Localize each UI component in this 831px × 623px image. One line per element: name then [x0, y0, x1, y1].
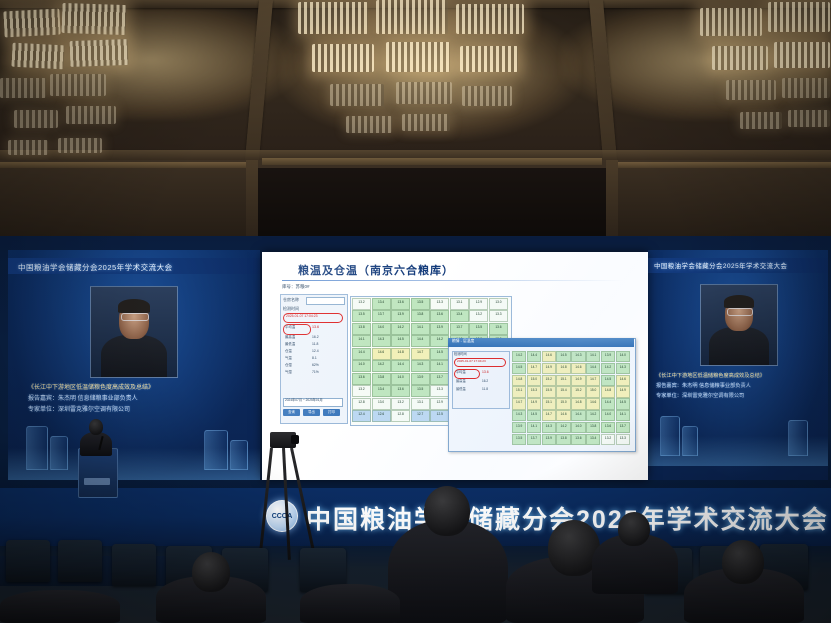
- ccoa-logo-icon: CCOA: [266, 500, 298, 532]
- led-right-ground-glow: [648, 436, 828, 466]
- audience-head-1: [424, 486, 470, 536]
- chair-3[interactable]: [112, 544, 156, 586]
- chandelier-c3: [456, 4, 524, 34]
- audience-head-3: [618, 512, 650, 546]
- chandelier-r2: [768, 2, 830, 32]
- audience-person-7: [0, 590, 120, 623]
- led-left-portrait: [90, 286, 178, 378]
- audience-person-6: [300, 584, 400, 623]
- chandelier-r1: [700, 8, 762, 36]
- speaker-head: [89, 419, 103, 435]
- wall-column-right: [606, 160, 618, 242]
- conference-hall-photo: 中国粮油学会储藏分会2025年学术交流大会 《长江中下游地区低温储粮色度高成效及…: [0, 0, 831, 623]
- wall-column-left: [246, 160, 258, 242]
- led-right-caption-line2: 报告嘉宾：朱杰明 信息储粮事业部负责人: [656, 382, 751, 390]
- chandelier-r5: [726, 80, 776, 100]
- chandelier-c2: [376, 0, 448, 34]
- led-right-caption-line3: 专家单位：深圳雷克雅尔空调有限公司: [656, 392, 744, 400]
- portrait-body-left: [101, 335, 167, 378]
- chandelier-l4: [70, 39, 129, 67]
- chandelier-r3: [712, 46, 768, 70]
- ccoa-logo-text: CCOA: [272, 513, 293, 520]
- chandelier-l9: [8, 140, 48, 155]
- led-right-caption-title: 《长江中下游地区低温储粮色度高成效及总结》: [656, 372, 765, 380]
- camera-lens-icon: [291, 435, 299, 444]
- presentation-screen: 粮温及仓温（南京六合粮库） 库号：苏粮0# 仓房名称 检测时间 2025-01-…: [262, 252, 648, 480]
- chandelier-c1: [298, 2, 368, 34]
- chandelier-c9: [462, 86, 512, 106]
- chandelier-r6: [782, 78, 830, 98]
- chandelier-l1: [3, 9, 60, 38]
- led-screen-right: 中国粮油学会储藏分会2025年学术交流大会 《长江中下游地区低温储粮色度高成效及…: [648, 250, 828, 480]
- wall-trim-left: [0, 162, 250, 168]
- chandelier-c4: [312, 44, 374, 72]
- wall-trim-right: [612, 162, 831, 168]
- chandelier-l3: [11, 43, 64, 70]
- chandelier-r8: [788, 110, 830, 127]
- portrait-hair-left: [118, 299, 150, 313]
- led-left-caption-line2: 报告嘉宾：朱杰明 信息储粮事业部负责人: [28, 395, 138, 404]
- audience-head-4: [722, 540, 764, 584]
- chair-1[interactable]: [6, 540, 50, 582]
- chandelier-l5: [0, 78, 46, 98]
- chandelier-c7: [330, 84, 384, 106]
- wall-dark-alcove: [258, 168, 606, 242]
- chandelier-r7: [740, 112, 782, 129]
- led-right-header-text: 中国粮油学会储藏分会2025年学术交流大会: [654, 261, 787, 270]
- portrait-glasses-right: [727, 308, 753, 316]
- portrait-hair-right: [724, 295, 754, 308]
- banner-logo: CCOA: [266, 500, 298, 532]
- chandelier-l7: [14, 110, 58, 128]
- chandelier-c8: [396, 82, 452, 104]
- speaker-shoulders: [80, 432, 112, 456]
- led-left-header-text: 中国粮油学会储藏分会2025年学术交流大会: [18, 262, 173, 273]
- chandelier-c10: [346, 116, 392, 133]
- led-right-portrait: [700, 284, 778, 366]
- podium-name-plate: [84, 478, 110, 485]
- chandelier-c6: [460, 46, 518, 72]
- led-left-ground-glow: [8, 448, 260, 480]
- audience-head-5: [192, 552, 230, 592]
- wall-trim-center: [262, 158, 602, 165]
- portrait-glasses-left: [121, 313, 149, 321]
- chandelier-l2: [61, 3, 126, 35]
- chandelier-l6: [50, 74, 106, 96]
- chandelier-c11: [402, 114, 450, 131]
- chandelier-r4: [774, 42, 830, 68]
- chair-2[interactable]: [58, 540, 102, 582]
- led-screen-left: 中国粮油学会储藏分会2025年学术交流大会 《长江中下游地区低温储粮色度高成效及…: [8, 250, 260, 480]
- chandelier-c5: [386, 42, 450, 72]
- screen-glare: [262, 252, 648, 480]
- chandelier-l8: [66, 106, 116, 124]
- led-left-caption-line3: 专家单位：深圳雷克雅尔空调有限公司: [28, 406, 130, 415]
- chandelier-l10: [58, 138, 102, 153]
- led-left-caption-title: 《长江中下游地区低温储粮色度高成效及总结》: [28, 384, 154, 393]
- portrait-body-right: [709, 327, 769, 366]
